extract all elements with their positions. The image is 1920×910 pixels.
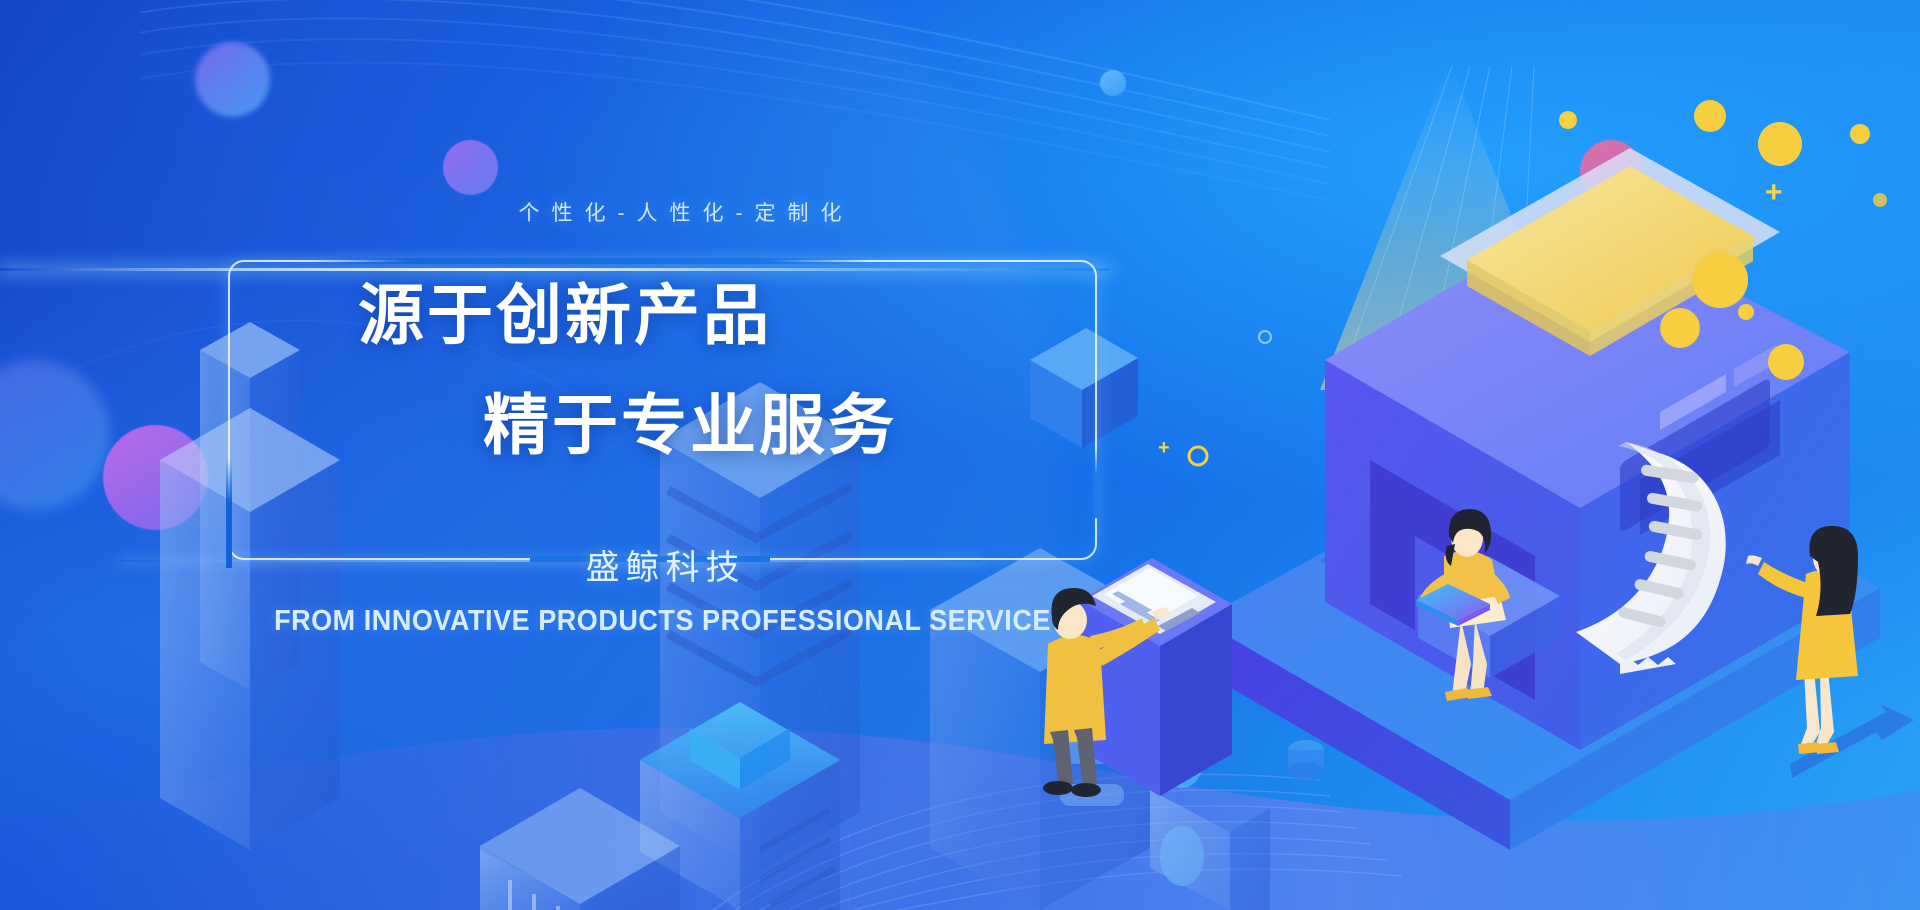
man-at-kiosk [1043, 558, 1232, 797]
headline-line-2: 精于专业服务 [483, 392, 1097, 458]
company-name: 盛鲸科技 [228, 540, 1097, 589]
subtitle-english: FROM INNOVATIVE PRODUCTS PROFESSIONAL SE… [258, 605, 1066, 638]
headline-block: 源于创新产品 精于专业服务 [228, 282, 1097, 458]
tagline-top: 个性化-人性化-定制化 [420, 197, 940, 227]
decor-circle-2 [443, 140, 498, 195]
isometric-data-machine-illustration [1020, 60, 1920, 910]
headline-line-1: 源于创新产品 [358, 282, 1097, 348]
decor-circle-1 [195, 42, 270, 117]
frame-gap-right [1093, 448, 1099, 518]
hero-banner: + + + [0, 0, 1920, 910]
